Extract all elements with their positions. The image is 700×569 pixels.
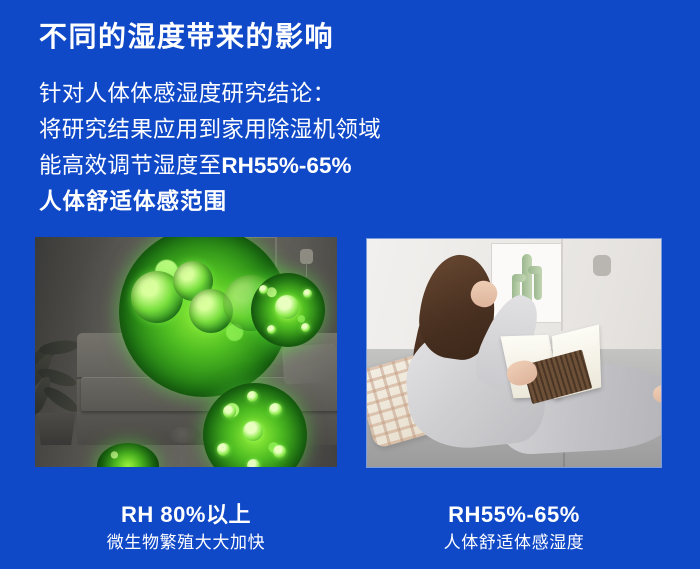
caption-subtitle: 人体舒适体感湿度: [367, 530, 661, 556]
caption-subtitle: 微生物繁殖大大加快: [35, 530, 337, 556]
caption-comfort-humidity: RH55%-65% 人体舒适体感湿度: [367, 500, 661, 556]
body-line-3: 能高效调节湿度至RH55%-65%: [39, 148, 381, 184]
scene-dim-living-room: [35, 237, 337, 467]
body-line-3-emphasis: RH55%-65%: [221, 153, 351, 178]
body-line-2: 将研究结果应用到家用除湿机领域: [39, 112, 381, 148]
sofa-cushion: [282, 343, 337, 385]
body-line-4: 人体舒适体感范围: [39, 184, 381, 220]
scene-bright-living-room: [367, 239, 661, 467]
wall-lamp-icon: [300, 249, 313, 264]
body-copy: 针对人体体感湿度研究结论： 将研究结果应用到家用除湿机领域 能高效调节湿度至RH…: [39, 76, 381, 220]
page-title: 不同的湿度带来的影响: [39, 17, 334, 57]
floor-object: [167, 427, 201, 443]
humidity-poster: 不同的湿度带来的影响 针对人体体感湿度研究结论： 将研究结果应用到家用除湿机领域…: [0, 0, 700, 569]
body-line-3-prefix: 能高效调节湿度至: [39, 153, 221, 178]
caption-high-humidity: RH 80%以上 微生物繁殖大大加快: [35, 500, 337, 556]
photo-high-humidity: [35, 237, 337, 467]
body-line-1: 针对人体体感湿度研究结论：: [39, 76, 381, 112]
caption-title: RH 80%以上: [35, 500, 337, 530]
photo-comfort-humidity: [367, 239, 661, 467]
wall-edge-line: [561, 239, 563, 331]
caption-title: RH55%-65%: [367, 500, 661, 530]
wall-speaker-icon: [593, 255, 611, 276]
microbe-icon: [251, 273, 325, 347]
